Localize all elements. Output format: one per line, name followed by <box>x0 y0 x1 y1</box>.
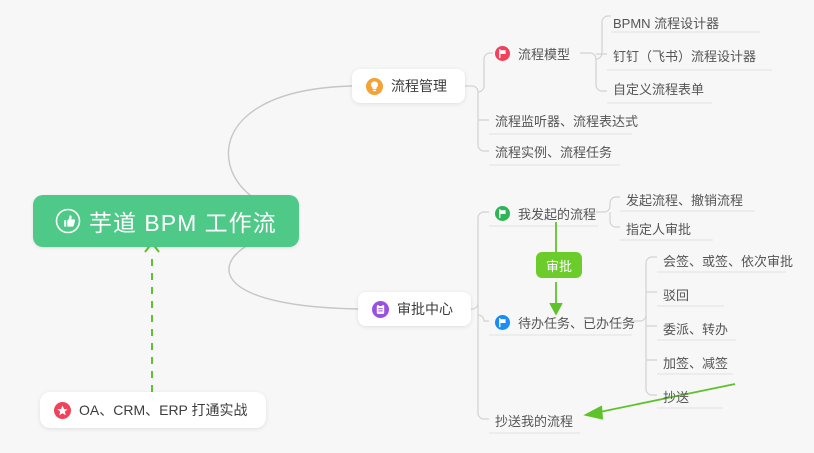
topic-node-assignee-approval[interactable]: 指定人审批 <box>622 214 697 242</box>
topic-label-custom-form: 自定义流程表单 <box>613 79 704 98</box>
aside-node-oa-crm-erp[interactable]: OA、CRM、ERP 打通实战 <box>40 392 266 428</box>
flag-icon <box>495 206 510 221</box>
topic-node-dingtalk-designer[interactable]: 钉钉（飞书）流程设计器 <box>609 41 762 69</box>
branch-label-process-management: 流程管理 <box>391 76 447 96</box>
topic-node-reject[interactable]: 驳回 <box>659 280 695 308</box>
topic-label-cc: 抄送 <box>663 387 689 406</box>
topic-node-process-instance[interactable]: 流程实例、流程任务 <box>491 137 618 165</box>
star-icon <box>54 402 71 419</box>
topic-node-process-model[interactable]: 流程模型 <box>491 39 576 67</box>
mindmap-canvas[interactable]: 芋道 BPM 工作流 流程管理 流程模型 BPMN 流程设计器 钉钉（飞书）流程… <box>0 0 814 453</box>
topic-node-bpmn-designer[interactable]: BPMN 流程设计器 <box>609 8 725 36</box>
lightbulb-icon <box>366 78 383 95</box>
topic-label-assignee-approval: 指定人审批 <box>626 219 691 238</box>
topic-label-todo-done-task: 待办任务、已办任务 <box>518 313 635 332</box>
topic-node-cc-my-process[interactable]: 抄送我的流程 <box>491 406 579 434</box>
thumbs-up-icon <box>55 208 81 234</box>
edge-process-model-spine <box>580 53 607 91</box>
topic-node-countersign[interactable]: 会签、或签、依次审批 <box>659 246 799 274</box>
topic-label-dingtalk-designer: 钉钉（飞书）流程设计器 <box>613 46 756 65</box>
topic-node-add-remove-sign[interactable]: 加签、减签 <box>659 348 734 376</box>
topic-label-bpmn-designer: BPMN 流程设计器 <box>613 13 719 32</box>
topic-node-process-listener[interactable]: 流程监听器、流程表达式 <box>491 106 644 134</box>
root-node[interactable]: 芋道 BPM 工作流 <box>33 195 299 247</box>
flag-icon <box>495 46 510 61</box>
topic-label-process-model: 流程模型 <box>518 44 570 63</box>
document-icon <box>372 301 389 318</box>
topic-node-my-started-process[interactable]: 我发起的流程 <box>491 199 602 227</box>
topic-label-process-instance: 流程实例、流程任务 <box>495 142 612 161</box>
topic-node-custom-form[interactable]: 自定义流程表单 <box>609 74 710 102</box>
topic-label-reject: 驳回 <box>663 285 689 304</box>
branch-label-approval-center: 审批中心 <box>397 299 453 319</box>
topic-label-add-remove-sign: 加签、减签 <box>663 353 728 372</box>
edge-todo-spine-down <box>646 327 657 395</box>
root-label: 芋道 BPM 工作流 <box>89 204 277 238</box>
topic-label-process-listener: 流程监听器、流程表达式 <box>495 111 638 130</box>
callout-chip-approval-label: 审批 <box>546 256 572 275</box>
edge-approval-center-spine-down <box>478 315 489 321</box>
aside-label-oa-crm-erp: OA、CRM、ERP 打通实战 <box>79 400 248 420</box>
edge-my-started-spine-down <box>610 212 620 227</box>
branch-node-approval-center[interactable]: 审批中心 <box>358 292 471 326</box>
topic-label-start-cancel-process: 发起流程、撤销流程 <box>626 190 743 209</box>
flag-icon <box>495 315 510 330</box>
topic-label-cc-my-process: 抄送我的流程 <box>495 411 573 430</box>
topic-label-delegate-transfer: 委派、转办 <box>663 319 728 338</box>
edge-root-to-process-management <box>228 86 352 210</box>
topic-node-delegate-transfer[interactable]: 委派、转办 <box>659 314 734 342</box>
topic-label-my-started-process: 我发起的流程 <box>518 204 596 223</box>
topic-label-countersign: 会签、或签、依次审批 <box>663 251 793 270</box>
edge-process-management-spine <box>462 86 489 151</box>
branch-node-process-management[interactable]: 流程管理 <box>352 69 465 103</box>
topic-node-todo-done-task[interactable]: 待办任务、已办任务 <box>491 308 641 336</box>
edge-approval-center-spine-cc <box>478 315 489 419</box>
topic-node-cc[interactable]: 抄送 <box>659 382 695 410</box>
callout-chip-approval[interactable]: 审批 <box>536 252 582 278</box>
topic-node-start-cancel-process[interactable]: 发起流程、撤销流程 <box>622 185 749 213</box>
arrow-oa-to-root <box>145 243 159 392</box>
